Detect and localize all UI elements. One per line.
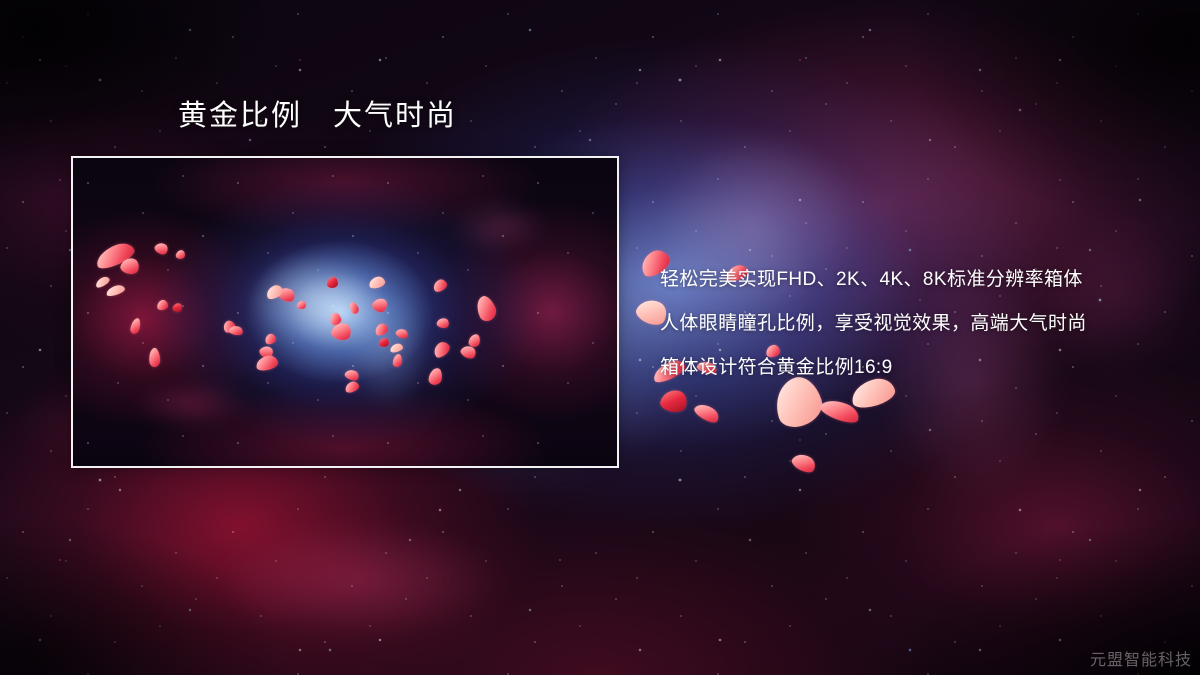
body-copy: 轻松完美实现FHD、2K、4K、8K标准分辨率箱体 人体眼睛瞳孔比例，享受视觉效… xyxy=(660,258,1170,390)
presentation-slide: 黄金比例 大气时尚 xyxy=(0,0,1200,675)
framed-image xyxy=(71,156,619,468)
body-line-3: 箱体设计符合黄金比例16:9 xyxy=(660,346,1170,390)
watermark: 元盟智能科技 xyxy=(1090,646,1192,670)
framed-image-starfield xyxy=(73,158,617,466)
petal xyxy=(659,387,690,415)
body-line-1: 轻松完美实现FHD、2K、4K、8K标准分辨率箱体 xyxy=(660,258,1170,302)
petal xyxy=(818,395,862,427)
petal xyxy=(692,400,721,426)
body-line-2: 人体眼睛瞳孔比例，享受视觉效果，高端大气时尚 xyxy=(660,302,1170,346)
page-title: 黄金比例 大气时尚 xyxy=(178,99,457,134)
petal xyxy=(790,450,819,476)
